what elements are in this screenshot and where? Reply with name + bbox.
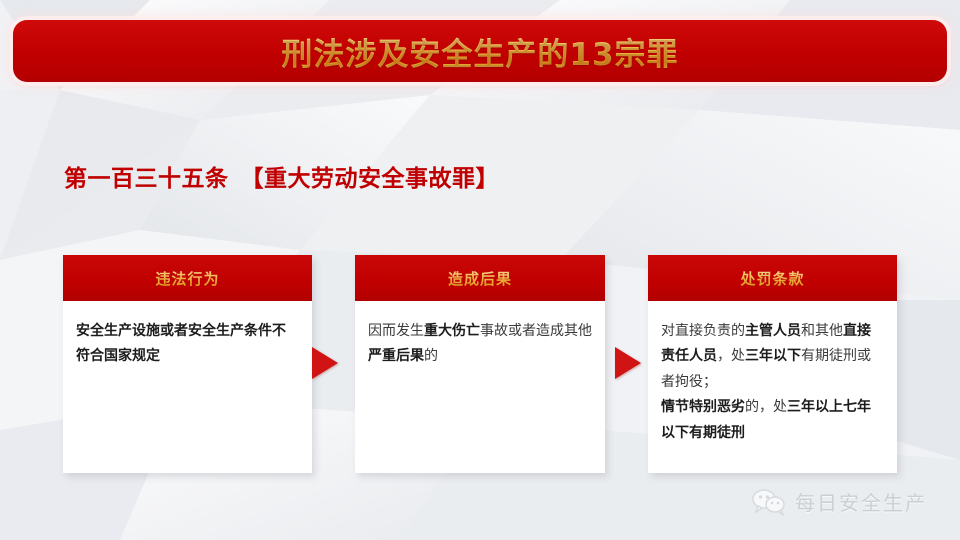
- flow-card-header: 造成后果: [355, 255, 605, 301]
- card3-seg8-bold: 情节特别恶劣: [661, 399, 745, 415]
- flow-card-consequence: 造成后果 因而发生重大伤亡事故或者造成其他严重后果的: [355, 255, 605, 473]
- card3-seg3: 和其他: [801, 323, 843, 339]
- card3-seg5: ，处: [717, 348, 745, 364]
- card3-seg2-bold: 主管人员: [745, 323, 801, 339]
- flow-card-body: 对直接负责的主管人员和其他直接责任人员，处三年以下有期徒刑或者拘役；情节特别恶劣…: [648, 301, 897, 456]
- card3-seg9: 的，处: [745, 399, 787, 415]
- slide-canvas: 刑法涉及安全生产的13宗罪 第一百三十五条 【重大劳动安全事故罪】 违法行为 安…: [0, 0, 960, 540]
- watermark-label: 每日安全生产: [795, 487, 927, 516]
- flow-card-header: 处罚条款: [648, 255, 897, 301]
- card2-seg5: 的: [424, 348, 438, 364]
- flow-card-body: 因而发生重大伤亡事故或者造成其他严重后果的: [355, 301, 605, 380]
- flow-card-header-label: 违法行为: [155, 268, 219, 289]
- article-subtitle: 第一百三十五条 【重大劳动安全事故罪】: [64, 159, 499, 193]
- card3-seg6-bold: 三年以下: [745, 348, 801, 364]
- card2-seg3: 事故或者造成其他: [480, 323, 592, 339]
- slide-title-bar: 刑法涉及安全生产的13宗罪: [13, 20, 947, 82]
- arrow-right-icon: [312, 347, 338, 379]
- flow-card-header-label: 造成后果: [448, 268, 512, 289]
- card2-seg1: 因而发生: [368, 323, 424, 339]
- card3-seg1: 对直接负责的: [661, 323, 745, 339]
- flow-card-body: 安全生产设施或者安全生产条件不符合国家规定: [63, 301, 312, 380]
- flow-card-header: 违法行为: [63, 255, 312, 301]
- card1-line1: 安全生产设施或者安全生产条件: [76, 323, 272, 339]
- flow-card-penalty: 处罚条款 对直接负责的主管人员和其他直接责任人员，处三年以下有期徒刑或者拘役；情…: [648, 255, 897, 473]
- arrow-right-icon: [615, 347, 641, 379]
- wechat-icon: [752, 488, 786, 516]
- page-title: 刑法涉及安全生产的13宗罪: [281, 29, 678, 74]
- card2-seg2-bold: 重大伤亡: [424, 323, 480, 339]
- card2-seg4-bold: 严重后果: [368, 348, 424, 364]
- flow-card-header-label: 处罚条款: [740, 268, 804, 289]
- watermark: 每日安全生产: [752, 487, 927, 516]
- flow-card-violation: 违法行为 安全生产设施或者安全生产条件不符合国家规定: [63, 255, 312, 473]
